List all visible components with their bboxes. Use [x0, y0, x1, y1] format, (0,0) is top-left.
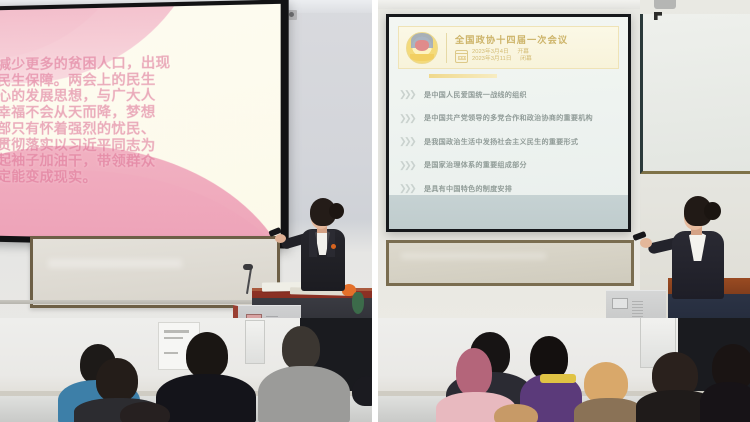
slide-right-footer [389, 195, 628, 229]
slide-left-line: 广大党员、干部只有怀着强烈的忧民、 [0, 121, 265, 138]
slide-left-line: 民之心，认真贯彻落实以习近平同志为 [0, 137, 265, 155]
cppcc-emblem-icon [406, 32, 438, 64]
screenshot-root: 的新增就业，减少更多的贫困人口，出现 ，织密更牢的民生保障。两会上的民生 了以人… [0, 0, 750, 422]
audience-shoulders [700, 382, 750, 422]
slide-accent-bar [429, 74, 497, 78]
slide-right-bullet-list: ❯❯❯ 是中国人民爱国统一战线的组织 ❯❯❯ 是中国共产党领导的多党合作和政治协… [399, 89, 620, 207]
bullet-text: 是中国共产党领导的多党合作和政治协商的重要机构 [424, 113, 593, 123]
whiteboard-right [386, 240, 634, 286]
projection-screen-right: 全国政协十四届一次会议 2023年3月4日 开幕 2023年3月11日 [386, 14, 631, 232]
presenter-hair-bun-left [329, 203, 344, 219]
slide-left-line: 盼同频共振。幸福不会从天而降，梦想 [0, 104, 265, 121]
list-item: ❯❯❯ 是具有中国特色的制度安排 [399, 183, 620, 194]
chevron-right-icon: ❯❯❯ [399, 184, 419, 193]
presenter-badge-left [331, 244, 336, 249]
audience-head [494, 404, 538, 422]
date-tag: 开幕 [517, 49, 529, 56]
panel-divider [372, 0, 378, 422]
lecture-photo-left: 的新增就业，减少更多的贫困人口，出现 ，织密更牢的民生保障。两会上的民生 了以人… [0, 0, 372, 422]
slide-right: 全国政协十四届一次会议 2023年3月4日 开幕 2023年3月11日 [389, 17, 628, 229]
list-item: ❯❯❯ 是中国人民爱国统一战线的组织 [399, 89, 620, 100]
audience-head [456, 348, 492, 396]
bullet-text: 是中国人民爱国统一战线的组织 [424, 90, 527, 100]
slide-left-line: 福的图影就一定能变成现实。 [0, 168, 265, 188]
whiteboard-side-right [640, 14, 750, 174]
screen-mount-bracket-icon [288, 10, 297, 20]
presenter-hand-left [275, 234, 286, 243]
whiteboard-left [30, 236, 280, 308]
audience-head [120, 402, 170, 422]
chevron-right-icon: ❯❯❯ [399, 137, 419, 146]
audience-shoulders [574, 398, 644, 422]
date-tag: 闭幕 [520, 56, 532, 63]
list-item: ❯❯❯ 是中国共产党领导的多党合作和政治协商的重要机构 [399, 113, 620, 124]
list-item: ❯❯❯ 是我国政治生活中发扬社会主义民生的重要形式 [399, 136, 620, 147]
presenter-left [295, 198, 355, 308]
wall-panel-left [245, 320, 265, 364]
presenter-hand-right [640, 238, 652, 248]
list-item: ❯❯❯ 是国家治理体系的重要组成部分 [399, 160, 620, 171]
audience-shoulders [258, 366, 350, 422]
slide-left: 的新增就业，减少更多的贫困人口，出现 ，织密更牢的民生保障。两会上的民生 了以人… [0, 4, 281, 242]
chevron-right-icon: ❯❯❯ [399, 114, 419, 123]
bullet-text: 是国家治理体系的重要组成部分 [424, 160, 527, 170]
date-value: 2023年3月11日 [472, 56, 512, 63]
audience-scarf [540, 374, 576, 383]
audience-head [186, 332, 228, 378]
microphone-head-icon [243, 264, 253, 270]
presenter-right [666, 196, 738, 312]
presenter-hair-bun-right [704, 202, 721, 220]
chevron-right-icon: ❯❯❯ [399, 161, 419, 170]
audience-shoulders [156, 374, 256, 422]
audience-head [352, 376, 372, 406]
date-value: 2023年3月4日 [472, 49, 509, 56]
audience-head [96, 358, 138, 402]
slide-right-dates: 2023年3月4日 开幕 2023年3月11日 闭幕 [455, 49, 618, 64]
projector-mount-right [654, 0, 676, 9]
header-divider [446, 33, 447, 63]
audience-head [282, 326, 320, 370]
projection-screen-left: 的新增就业，减少更多的贫困人口，出现 ，织密更牢的民生保障。两会上的民生 了以人… [0, 0, 289, 249]
slide-left-line: 了以人民为中心的发展思想，与广大人 [0, 87, 265, 105]
slide-right-title: 全国政协十四届一次会议 [455, 32, 618, 46]
bullet-text: 是具有中国特色的制度安排 [424, 184, 512, 194]
lecture-photo-right: 全国政协十四届一次会议 2023年3月4日 开幕 2023年3月11日 [378, 0, 750, 422]
audience-right [378, 318, 750, 422]
chevron-right-icon: ❯❯❯ [399, 90, 419, 99]
slide-left-body-text: 的新增就业，减少更多的贫困人口，出现 ，织密更牢的民生保障。两会上的民生 了以人… [0, 53, 265, 187]
audience-left [0, 318, 372, 422]
calendar-icon [455, 50, 468, 63]
bullet-text: 是我国政治生活中发扬社会主义民生的重要形式 [424, 137, 578, 147]
slide-right-header: 全国政协十四届一次会议 2023年3月4日 开幕 2023年3月11日 [398, 26, 619, 69]
